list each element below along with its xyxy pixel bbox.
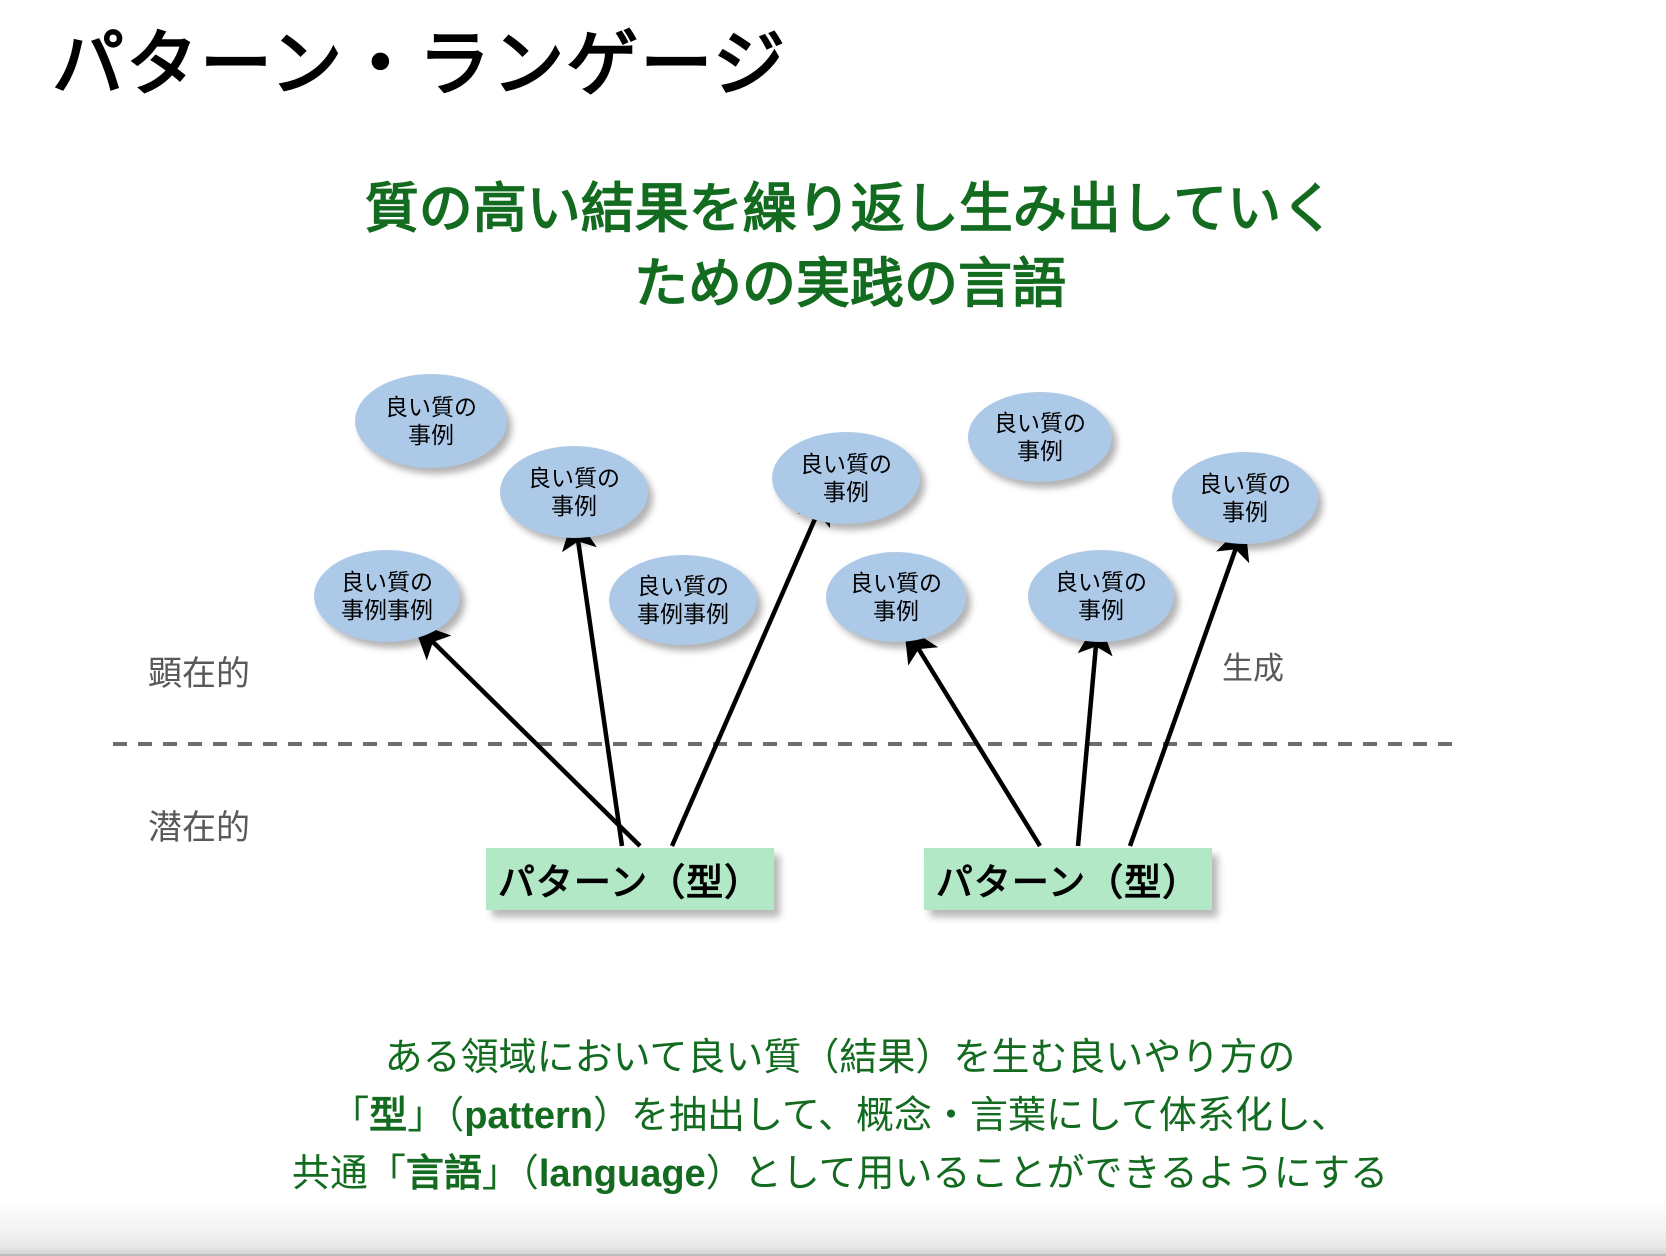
bubble-line-2: 事例 — [800, 478, 892, 506]
description-line-1: ある領域において良い質（結果）を生む良いやり方の — [120, 1030, 1560, 1088]
desc3-mid: 」（ — [482, 1153, 539, 1195]
desc2-post: ）を抽出して、概念・言葉にして体系化し、 — [593, 1095, 1349, 1137]
bubble-text: 良い質の事例事例 — [341, 568, 433, 624]
description-line-3: 共通「言語」（language）として用いることができるようにする — [120, 1146, 1560, 1204]
example-bubble: 良い質の事例 — [1172, 452, 1318, 544]
bubble-line-1: 良い質の — [1199, 470, 1291, 498]
arrow-right-to-bubble-8 — [1078, 645, 1096, 846]
arrow-right-to-bubble-6 — [918, 648, 1040, 846]
example-bubble: 良い質の事例 — [826, 552, 966, 642]
bubble-line-1: 良い質の — [341, 568, 433, 596]
bubble-line-1: 良い質の — [385, 393, 477, 421]
bubble-text: 良い質の事例 — [850, 569, 942, 625]
subtitle-line-1: 質の高い結果を繰り返し生み出していく — [280, 172, 1420, 247]
desc3-bold-language: language — [539, 1153, 706, 1195]
bubble-line-2: 事例 — [850, 597, 942, 625]
bubble-line-2: 事例 — [1055, 596, 1147, 624]
bubble-text: 良い質の事例 — [385, 393, 477, 449]
subtitle-line-2: ための実践の言語 — [280, 247, 1420, 322]
desc3-post: ）として用いることができるようにする — [706, 1153, 1388, 1195]
page-title: パターン・ランゲージ — [52, 26, 787, 105]
bubble-text: 良い質の事例 — [800, 450, 892, 506]
example-bubble: 良い質の事例 — [1028, 550, 1174, 642]
bubble-line-2: 事例 — [994, 437, 1086, 465]
desc3-pre: 共通「 — [292, 1153, 406, 1195]
label-generation: 生成 — [1222, 643, 1284, 688]
bubble-line-2: 事例事例 — [637, 600, 729, 628]
desc3-bold-gengo: 言語 — [406, 1153, 482, 1195]
bubble-line-1: 良い質の — [637, 572, 729, 600]
label-latent: 潜在的 — [148, 800, 250, 849]
bubble-line-2: 事例 — [385, 421, 477, 449]
slide-canvas: パターン・ランゲージ 質の高い結果を繰り返し生み出していく ための実践の言語 良… — [0, 0, 1666, 1256]
bubble-text: 良い質の事例 — [1199, 470, 1291, 526]
example-bubble: 良い質の事例 — [772, 432, 920, 524]
example-bubble: 良い質の事例 — [500, 446, 648, 538]
bubble-line-2: 事例 — [1199, 498, 1291, 526]
example-bubble: 良い質の事例事例 — [609, 555, 757, 645]
pattern-box[interactable]: パターン（型） — [486, 848, 774, 910]
bubble-text: 良い質の事例 — [1055, 568, 1147, 624]
example-bubble: 良い質の事例 — [968, 392, 1112, 482]
desc2-pre: 「 — [331, 1095, 369, 1137]
example-bubble: 良い質の事例 — [355, 374, 507, 468]
bubble-line-1: 良い質の — [528, 464, 620, 492]
bubble-text: 良い質の事例事例 — [637, 572, 729, 628]
arrow-left-to-bubble-3 — [432, 641, 640, 846]
pattern-box[interactable]: パターン（型） — [924, 848, 1212, 910]
label-explicit: 顕在的 — [148, 646, 250, 695]
bubble-text: 良い質の事例 — [994, 409, 1086, 465]
desc2-bold-kata: 型 — [369, 1095, 407, 1137]
description-block: ある領域において良い質（結果）を生む良いやり方の 「型」（pattern）を抽出… — [120, 1030, 1560, 1203]
desc2-bold-pattern: pattern — [464, 1095, 593, 1137]
bubble-line-1: 良い質の — [800, 450, 892, 478]
description-line-2: 「型」（pattern）を抽出して、概念・言葉にして体系化し、 — [120, 1088, 1560, 1146]
desc2-mid: 」（ — [407, 1095, 464, 1137]
bubble-line-1: 良い質の — [994, 409, 1086, 437]
slide-bottom-edge — [0, 1198, 1666, 1256]
bubble-line-1: 良い質の — [850, 569, 942, 597]
bubble-line-1: 良い質の — [1055, 568, 1147, 596]
bubble-text: 良い質の事例 — [528, 464, 620, 520]
bubble-line-2: 事例 — [528, 492, 620, 520]
bubble-line-2: 事例事例 — [341, 596, 433, 624]
subtitle: 質の高い結果を繰り返し生み出していく ための実践の言語 — [280, 172, 1420, 321]
example-bubble: 良い質の事例事例 — [314, 550, 460, 642]
